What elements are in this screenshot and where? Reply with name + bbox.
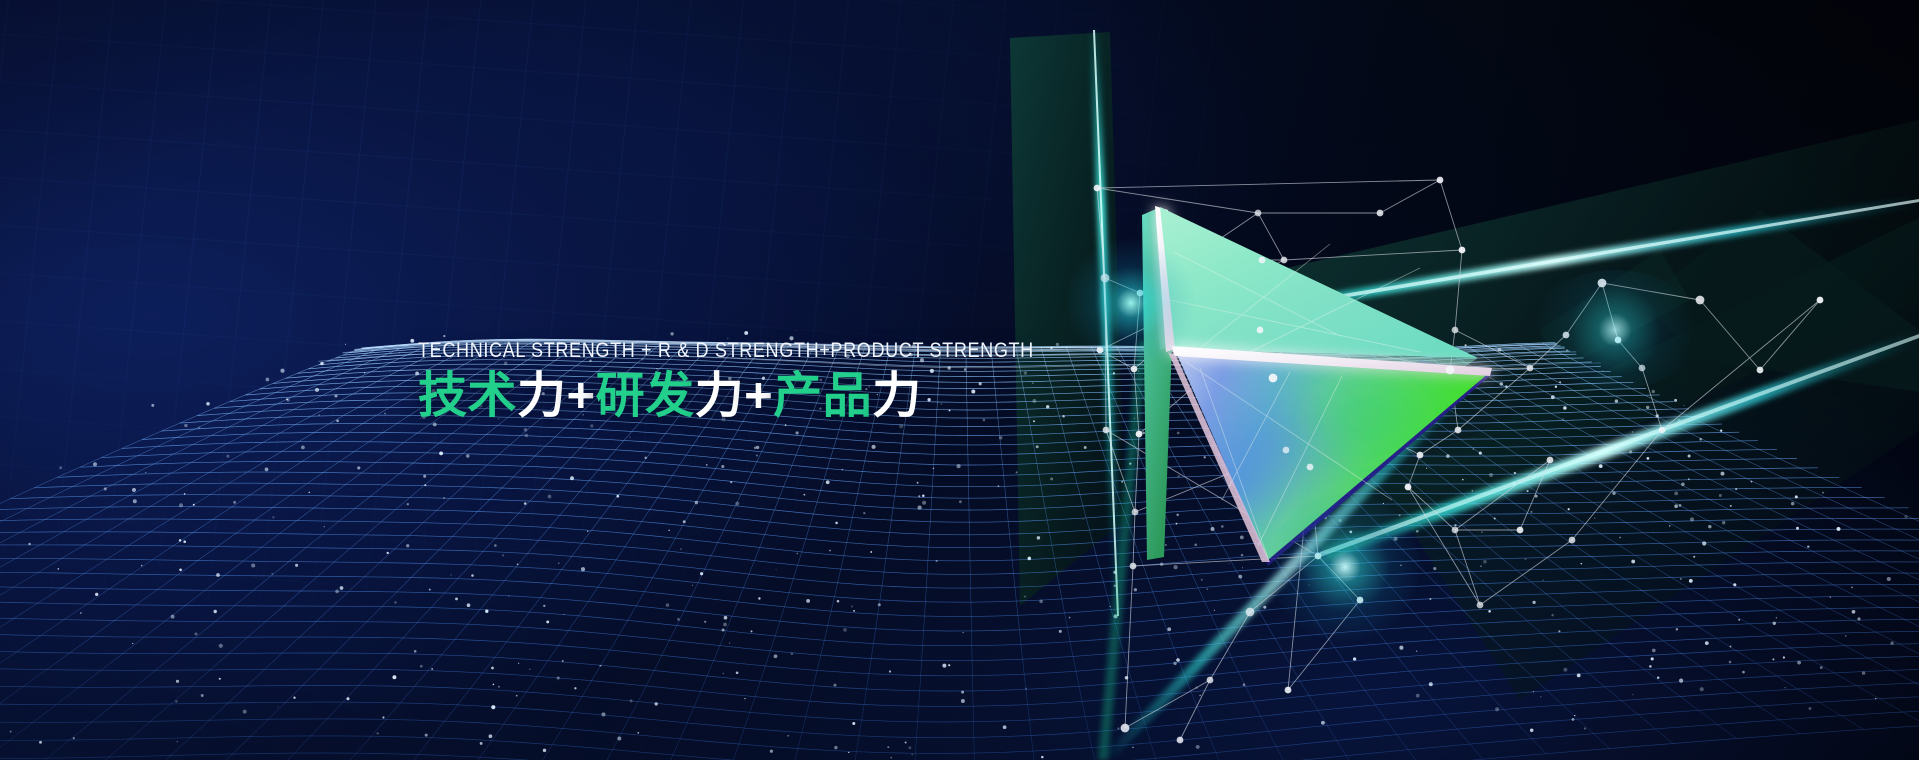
headline-seg-4: 力 bbox=[695, 367, 745, 424]
headline-plus-2: + bbox=[744, 369, 773, 423]
eyebrow-text: TECHNICAL STRENGTH + R & D STRENGTH+PROD… bbox=[418, 340, 1072, 361]
headline-seg-3: 研发 bbox=[596, 367, 695, 424]
hero-banner: TECHNICAL STRENGTH + R & D STRENGTH+PROD… bbox=[0, 0, 1919, 760]
page-title: 技术力+研发力+产品力 bbox=[418, 370, 1178, 423]
headline-seg-6: 力 bbox=[872, 367, 922, 424]
headline-seg-2: 力 bbox=[517, 367, 567, 424]
headline-seg-1: 技术 bbox=[418, 367, 517, 424]
headline-block: TECHNICAL STRENGTH + R & D STRENGTH+PROD… bbox=[418, 340, 1178, 423]
headline-plus-1: + bbox=[566, 369, 595, 423]
headline-seg-5: 产品 bbox=[773, 367, 872, 424]
